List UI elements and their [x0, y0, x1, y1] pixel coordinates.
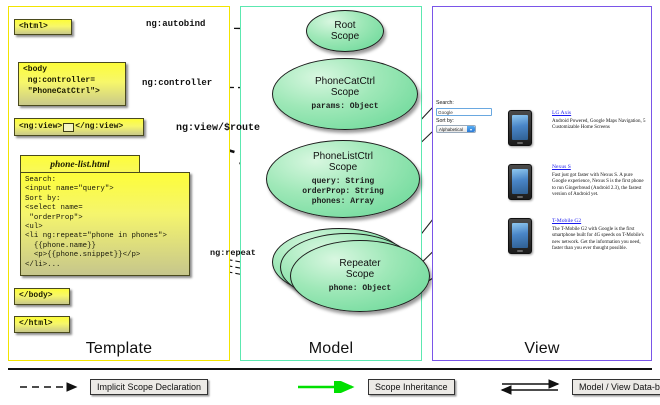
panel-model-title: Model — [241, 340, 421, 358]
legend-item-scope-inheritance: Scope Inheritance — [296, 379, 455, 395]
phone-list-note-code: Search: <input name="query"> Sort by: <s… — [20, 172, 190, 276]
view-search-form: Search: Google Sort by: Alphabetical ▾ — [436, 100, 496, 133]
scope-phonecatctrl-props: params: Object — [311, 102, 378, 112]
scope-root-name: Root Scope — [331, 20, 359, 42]
chevron-down-icon: ▾ — [467, 126, 475, 132]
search-label: Search: — [436, 100, 496, 107]
phone-screen-icon — [512, 169, 528, 194]
phone-entry-snippet: Android Powered, Google Maps Navigation,… — [552, 119, 648, 132]
code-box-ngview: <ng:view> </ng:view> — [14, 118, 144, 136]
ngview-slot-icon — [63, 123, 74, 132]
edge-label-ng-controller: ng:controller — [142, 78, 212, 88]
scope-repeater-name: Repeater Scope — [339, 258, 380, 280]
ngview-open-tag: <ng:view> — [19, 122, 62, 133]
phone-thumbnail-1[interactable] — [508, 110, 532, 146]
phone-entry: Nexus S Fast just got faster with Nexus … — [552, 164, 648, 199]
legend-label: Model / View Data-binding — [572, 379, 660, 395]
phone-entry-snippet: Fast just got faster with Nexus S. A pur… — [552, 173, 648, 199]
phone-screen-icon — [512, 223, 528, 248]
legend-green-arrow-icon — [296, 381, 362, 393]
phone-button-icon — [517, 142, 523, 144]
legend: Implicit Scope Declaration Scope Inherit… — [0, 368, 660, 405]
phone-entry-snippet: The T-Mobile G2 with Google is the first… — [552, 227, 648, 253]
scope-repeater-props: phone: Object — [329, 284, 391, 294]
sort-select[interactable]: Alphabetical ▾ — [436, 125, 476, 133]
legend-item-model-view-data-binding: Model / View Data-binding — [500, 379, 660, 395]
phone-entry: LG Axis Android Powered, Google Maps Nav… — [552, 110, 648, 132]
code-box-body-open: <body ng:controller= "PhoneCatCtrl"> — [18, 62, 126, 106]
scope-phonelistctrl-name: PhoneListCtrl Scope — [313, 151, 373, 173]
sort-label: Sort by: — [436, 118, 496, 125]
legend-divider — [8, 368, 652, 370]
search-input[interactable]: Google — [436, 108, 492, 116]
phone-button-icon — [517, 250, 523, 252]
edge-label-ng-autobind: ng:autobind — [146, 19, 205, 29]
scope-phonecatctrl-name: PhoneCatCtrl Scope — [315, 76, 375, 98]
phone-entry-link[interactable]: LG Axis — [552, 110, 648, 117]
scope-phonecatctrl: PhoneCatCtrl Scope params: Object — [272, 58, 418, 130]
phone-list-note: phone-list.html Search: <input name="que… — [20, 155, 190, 283]
phone-thumbnail-3[interactable] — [508, 218, 532, 254]
code-box-html-open: <html> — [14, 19, 72, 35]
phone-button-icon — [517, 196, 523, 198]
legend-label: Implicit Scope Declaration — [90, 379, 208, 395]
phone-thumbnail-2[interactable] — [508, 164, 532, 200]
edge-label-ng-repeat: ng:repeat — [210, 248, 256, 258]
sort-select-value: Alphabetical — [439, 127, 463, 132]
phone-entry-link[interactable]: Nexus S — [552, 164, 648, 171]
legend-dashed-arrow-icon — [18, 381, 84, 393]
scope-repeater: Repeater Scope phone: Object — [290, 240, 430, 312]
panel-template-title: Template — [9, 340, 229, 358]
phone-screen-icon — [512, 115, 528, 140]
legend-item-implicit-scope-declaration: Implicit Scope Declaration — [18, 379, 208, 395]
diagram-canvas: Template <html> <body ng:controller= "Ph… — [0, 0, 660, 405]
legend-label: Scope Inheritance — [368, 379, 455, 395]
scope-repeater-stack: Repeater Scope phone: Object — [272, 228, 428, 310]
ngview-close-tag: </ng:view> — [75, 122, 123, 133]
scope-phonelistctrl: PhoneListCtrl Scope query: String orderP… — [266, 140, 420, 218]
edge-label-ng-view-route: ng:view/$route — [176, 123, 260, 134]
legend-double-arrow-icon — [500, 379, 566, 395]
code-box-body-close: </body> — [14, 288, 70, 305]
scope-root: Root Scope — [306, 10, 384, 52]
panel-view-title: View — [433, 340, 651, 358]
phone-entry-link[interactable]: T-Mobile G2 — [552, 218, 648, 225]
scope-phonelistctrl-props: query: String orderProp: String phones: … — [302, 177, 384, 207]
code-box-html-close: </html> — [14, 316, 70, 333]
phone-entry: T-Mobile G2 The T-Mobile G2 with Google … — [552, 218, 648, 253]
